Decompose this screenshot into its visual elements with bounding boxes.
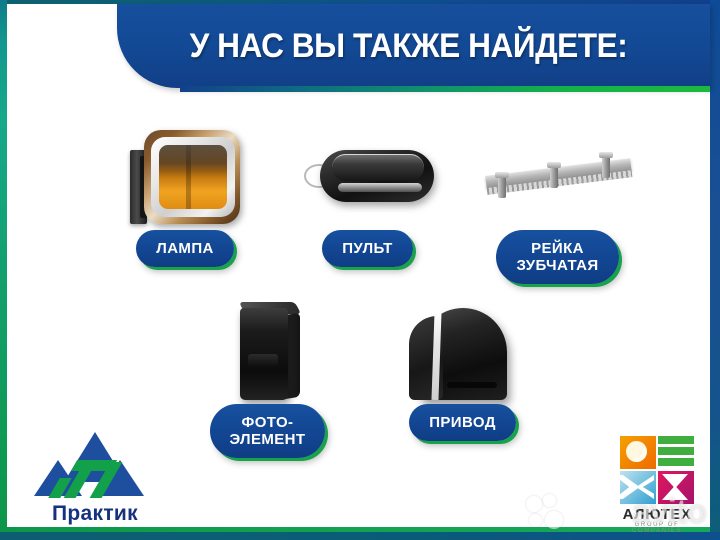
alutech-square-blue	[620, 471, 656, 504]
product-card-lamp[interactable]: ЛАМПА	[100, 118, 270, 267]
alutech-tagline: GROUP OF COMPANIES	[616, 522, 698, 534]
alutech-squares-logo	[620, 436, 694, 504]
page-title: У НАС ВЫ ТАКЖЕ НАЙДЕТЕ:	[137, 16, 679, 76]
praktik-triangle-logo	[30, 432, 160, 502]
alutech-logo[interactable]: АЛЮТЕХ GROUP OF COMPANIES	[616, 436, 698, 530]
frame-bottom-bar	[0, 532, 720, 540]
header-banner: У НАС ВЫ ТАКЖЕ НАЙДЕТЕ:	[117, 4, 710, 88]
gate-drive-photo	[380, 292, 545, 404]
product-label-drive[interactable]: ПРИВОД	[409, 404, 516, 441]
product-label-photocell[interactable]: ФОТО- ЭЛЕМЕНТ	[210, 404, 326, 458]
product-card-rack[interactable]: РЕЙКА ЗУБЧАТАЯ	[470, 118, 645, 284]
photocell-photo	[185, 292, 350, 404]
product-card-photocell[interactable]: ФОТО- ЭЛЕМЕНТ	[185, 292, 350, 458]
toothed-rack-photo	[470, 118, 645, 230]
alutech-square-magenta	[658, 471, 694, 504]
frame-left-stripe	[0, 0, 7, 533]
product-label-remote[interactable]: ПУЛЬТ	[322, 230, 413, 267]
product-card-drive[interactable]: ПРИВОД	[380, 292, 545, 441]
alutech-square-orange	[620, 436, 656, 469]
praktik-wordmark: Практик	[30, 502, 160, 526]
product-label-lamp[interactable]: ЛАМПА	[136, 230, 233, 267]
product-label-rack[interactable]: РЕЙКА ЗУБЧАТАЯ	[496, 230, 618, 284]
signal-lamp-photo	[100, 118, 270, 230]
alutech-wordmark: АЛЮТЕХ	[616, 506, 698, 523]
slide-canvas: У НАС ВЫ ТАКЖЕ НАЙДЕТЕ: ЛАМПА ПУЛЬТ	[0, 0, 720, 540]
praktik-logo[interactable]: Практик	[30, 432, 160, 532]
remote-control-photo	[285, 118, 450, 230]
frame-right-stripe	[710, 0, 720, 540]
header-accent-underline	[180, 86, 710, 92]
alutech-square-green	[658, 436, 694, 469]
product-card-remote[interactable]: ПУЛЬТ	[285, 118, 450, 267]
